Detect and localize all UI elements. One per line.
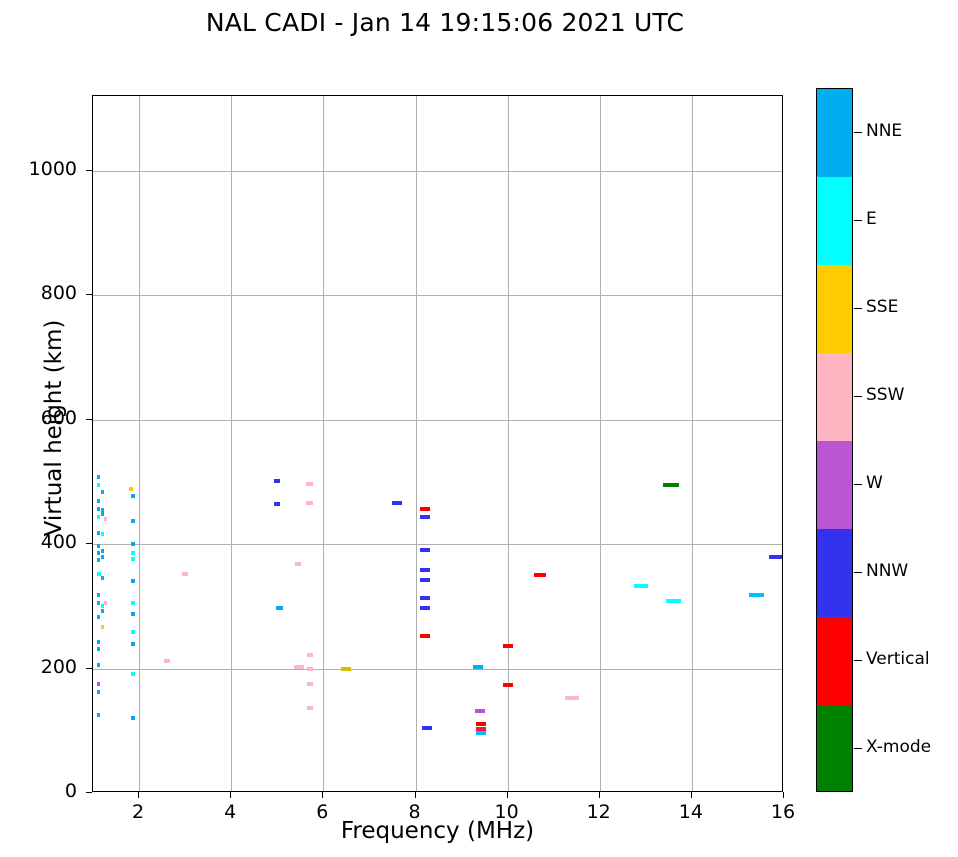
data-point <box>534 573 546 577</box>
y-axis-tick <box>86 170 92 171</box>
data-point <box>131 579 135 583</box>
y-axis-tick <box>86 668 92 669</box>
data-point <box>306 501 313 505</box>
data-point <box>131 630 135 634</box>
data-point <box>749 593 765 597</box>
data-point <box>97 593 100 597</box>
data-point <box>476 722 486 726</box>
data-point <box>420 596 430 600</box>
colorbar-tick <box>854 220 862 221</box>
data-point <box>422 726 432 730</box>
colorbar-label-nne: NNE <box>866 121 902 141</box>
colorbar-tick <box>854 484 862 485</box>
data-point <box>104 517 107 521</box>
y-axis-tick <box>86 419 92 420</box>
x-axis-tick <box>599 792 600 798</box>
data-point <box>420 578 430 582</box>
colorbar-label-x-mode: X-mode <box>866 737 931 757</box>
data-point <box>131 642 135 646</box>
data-point <box>420 548 430 552</box>
data-point <box>97 544 100 548</box>
data-point <box>131 672 135 676</box>
data-point <box>131 601 135 605</box>
data-point <box>307 653 313 657</box>
colorbar-tick <box>854 660 862 661</box>
data-point <box>97 531 100 535</box>
data-point <box>473 665 483 669</box>
data-point <box>101 508 104 512</box>
data-point <box>164 659 170 663</box>
data-point <box>97 499 100 503</box>
data-point <box>274 479 280 483</box>
colorbar-label-ssw: SSW <box>866 385 904 405</box>
data-point <box>97 551 100 555</box>
data-point <box>97 558 100 562</box>
x-axis-tick <box>783 792 784 798</box>
data-point <box>131 551 135 555</box>
data-point <box>101 555 104 559</box>
data-point <box>131 542 135 546</box>
data-point <box>295 562 301 566</box>
data-point <box>634 584 649 588</box>
data-point <box>97 615 100 619</box>
colorbar-label-nnw: NNW <box>866 561 908 581</box>
data-point <box>420 515 430 519</box>
plot-data-marks <box>93 96 782 791</box>
colorbar-segment-w <box>817 441 852 530</box>
colorbar-tick <box>854 396 862 397</box>
data-point <box>101 625 104 629</box>
y-axis-tick <box>86 792 92 793</box>
colorbar-label-vertical: Vertical <box>866 649 930 669</box>
data-point <box>97 690 100 694</box>
colorbar-segment-vertical <box>817 617 852 706</box>
x-axis-tick <box>322 792 323 798</box>
x-axis-tick <box>230 792 231 798</box>
data-point <box>101 532 104 536</box>
data-point <box>101 490 104 494</box>
colorbar-label-w: W <box>866 473 883 493</box>
data-point <box>503 683 513 687</box>
data-point <box>101 576 104 580</box>
data-point <box>131 612 135 616</box>
data-point <box>420 634 430 638</box>
data-point <box>392 501 402 505</box>
colorbar-label-e: E <box>866 209 877 229</box>
x-axis-label: Frequency (MHz) <box>92 818 783 844</box>
data-point <box>97 483 100 487</box>
data-point <box>475 709 485 713</box>
data-point <box>97 507 100 511</box>
data-point <box>769 555 782 559</box>
y-axis-tick <box>86 294 92 295</box>
colorbar-label-sse: SSE <box>866 297 898 317</box>
data-point <box>131 519 135 523</box>
data-point <box>341 667 351 671</box>
colorbar-segment-sse <box>817 265 852 354</box>
data-point <box>294 665 304 669</box>
data-point <box>307 667 313 671</box>
data-point <box>476 727 486 731</box>
colorbar-segment-x-mode <box>817 705 852 792</box>
data-point <box>420 507 430 511</box>
data-point <box>131 494 135 498</box>
x-axis-tick <box>691 792 692 798</box>
x-axis-tick <box>507 792 508 798</box>
data-point <box>101 549 104 553</box>
data-point <box>131 557 135 561</box>
data-point <box>274 502 280 506</box>
y-axis-tick-label: 200 <box>7 656 77 678</box>
data-point <box>97 713 100 717</box>
data-point <box>104 601 107 605</box>
data-point <box>101 609 104 613</box>
data-point <box>97 475 100 479</box>
data-point <box>663 483 679 487</box>
data-point <box>420 568 430 572</box>
data-point <box>666 599 682 603</box>
data-point <box>97 682 100 686</box>
y-axis-label: Virtual height (km) <box>41 228 67 628</box>
data-point <box>131 716 135 720</box>
colorbar-segment-e <box>817 177 852 266</box>
colorbar-tick <box>854 748 862 749</box>
colorbar-tick <box>854 572 862 573</box>
colorbar-tick <box>854 308 862 309</box>
data-point <box>97 601 100 605</box>
x-axis-tick <box>138 792 139 798</box>
data-point <box>565 696 579 700</box>
colorbar-tick <box>854 132 862 133</box>
data-point <box>306 482 313 486</box>
data-point <box>97 663 100 667</box>
y-axis-tick <box>86 543 92 544</box>
colorbar-segment-ssw <box>817 353 852 442</box>
data-point <box>97 572 101 576</box>
data-point <box>307 682 313 686</box>
data-point <box>101 512 104 516</box>
data-point <box>476 731 486 735</box>
y-axis-tick-label: 0 <box>7 780 77 802</box>
azimuth-colorbar <box>816 88 853 792</box>
data-point <box>276 606 282 610</box>
x-axis-tick <box>415 792 416 798</box>
data-point <box>97 640 100 644</box>
data-point <box>182 572 188 576</box>
ionogram-plot-area <box>92 95 783 792</box>
page-title: NAL CADI - Jan 14 19:15:06 2021 UTC <box>0 8 890 37</box>
colorbar-segment-nne <box>817 89 852 178</box>
colorbar-segment-nnw <box>817 529 852 618</box>
data-point <box>420 606 430 610</box>
data-point <box>307 706 313 710</box>
data-point <box>129 487 133 491</box>
data-point <box>503 644 513 648</box>
y-axis-tick-label: 1000 <box>7 158 77 180</box>
data-point <box>97 647 100 651</box>
data-point <box>97 515 100 519</box>
